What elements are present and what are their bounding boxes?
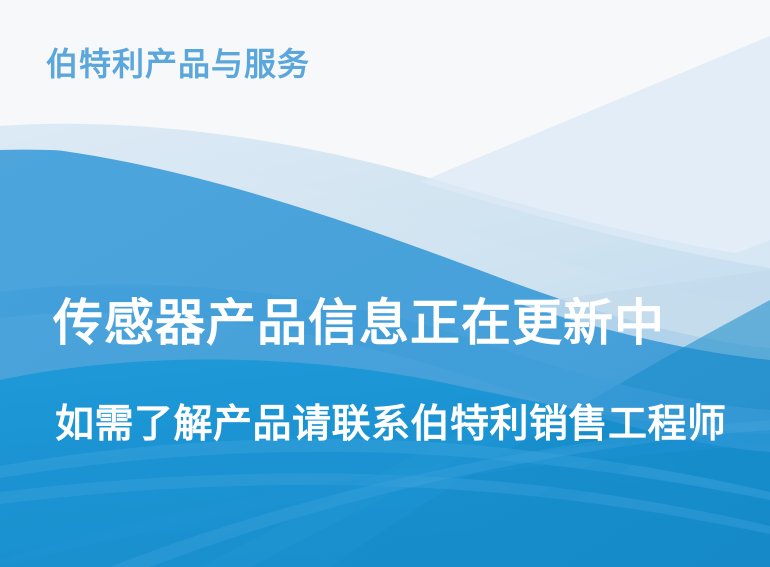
brand-title: 伯特利产品与服务 (46, 48, 310, 80)
headline-primary: 传感器产品信息正在更新中 (53, 298, 665, 348)
text-layer: 伯特利产品与服务 传感器产品信息正在更新中 如需了解产品请联系伯特利销售工程师 (0, 0, 770, 567)
headline-secondary: 如需了解产品请联系伯特利销售工程师 (55, 405, 727, 444)
promo-banner: 伯特利产品与服务 传感器产品信息正在更新中 如需了解产品请联系伯特利销售工程师 (0, 0, 770, 567)
